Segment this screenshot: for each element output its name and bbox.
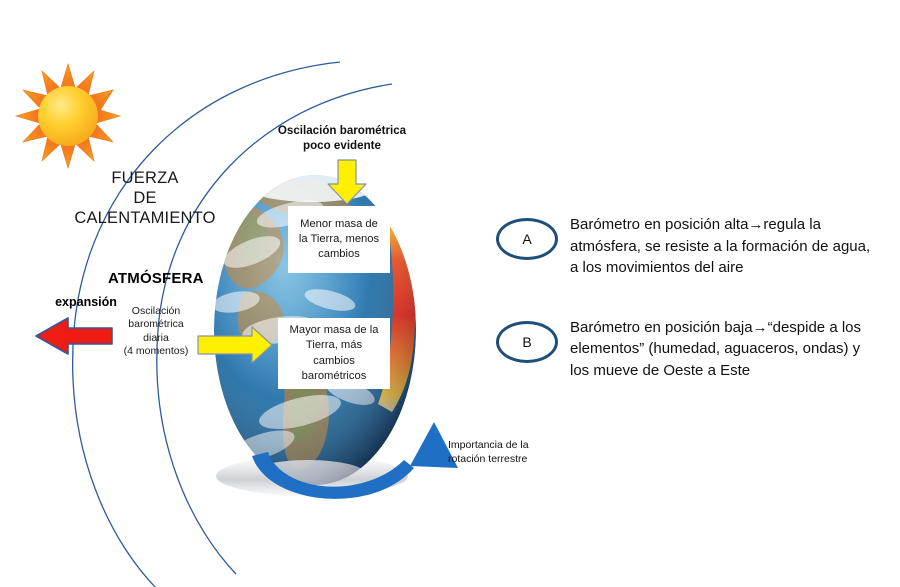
- callout-mayor-masa: Mayor masa de la Tierra, más cambios bar…: [278, 318, 390, 389]
- legend-a-text: Barómetro en posición alta→regula la atm…: [570, 212, 882, 279]
- fuerza-line-3: CALENTAMIENTO: [60, 208, 230, 228]
- fuerza-line-2: DE: [60, 188, 230, 208]
- osc-diaria-line-4: (4 momentos): [104, 345, 208, 358]
- importancia-rotacion-label: Importancia de la rotación terrestre: [448, 438, 578, 466]
- badge-a-letter: A: [496, 218, 558, 260]
- osc-diaria-line-2: barométrica: [104, 318, 208, 331]
- legend-panel: A Barómetro en posición alta→regula la a…: [496, 212, 888, 417]
- callout-menor-masa: Menor masa de la Tierra, menos cambios: [288, 206, 390, 273]
- badge-b-letter: B: [496, 321, 558, 363]
- osc-poco-line-2: poco evidente: [262, 139, 422, 154]
- legend-b-text: Barómetro en posición baja→“despide a lo…: [570, 315, 882, 382]
- legend-item-a: A Barómetro en posición alta→regula la a…: [496, 212, 888, 279]
- callout-menor-masa-text: Menor masa de la Tierra, menos cambios: [295, 217, 383, 263]
- oscilacion-barometrica-diaria-label: Oscilación barométrica diaria (4 momento…: [104, 305, 208, 359]
- osc-poco-line-1: Oscilación barométrica: [262, 124, 422, 139]
- osc-diaria-line-1: Oscilación: [104, 305, 208, 318]
- diagram-canvas: FUERZA DE CALENTAMIENTO ATMÓSFERA expans…: [0, 0, 900, 587]
- fuerza-de-calentamiento-label: FUERZA DE CALENTAMIENTO: [60, 168, 230, 228]
- importancia-line-1: Importancia de la: [448, 438, 578, 452]
- callout-mayor-masa-text: Mayor masa de la Tierra, más cambios bar…: [285, 323, 383, 384]
- oscilacion-poco-evidente-label: Oscilación barométrica poco evidente: [262, 124, 422, 154]
- legend-item-b: B Barómetro en posición baja→“despide a …: [496, 315, 888, 382]
- osc-diaria-line-3: diaria: [104, 332, 208, 345]
- badge-b: B: [496, 321, 558, 363]
- atmosfera-label: ATMÓSFERA: [108, 270, 238, 287]
- badge-a: A: [496, 218, 558, 260]
- fuerza-line-1: FUERZA: [60, 168, 230, 188]
- sun-icon: [16, 64, 120, 168]
- importancia-line-2: rotación terrestre: [448, 452, 578, 466]
